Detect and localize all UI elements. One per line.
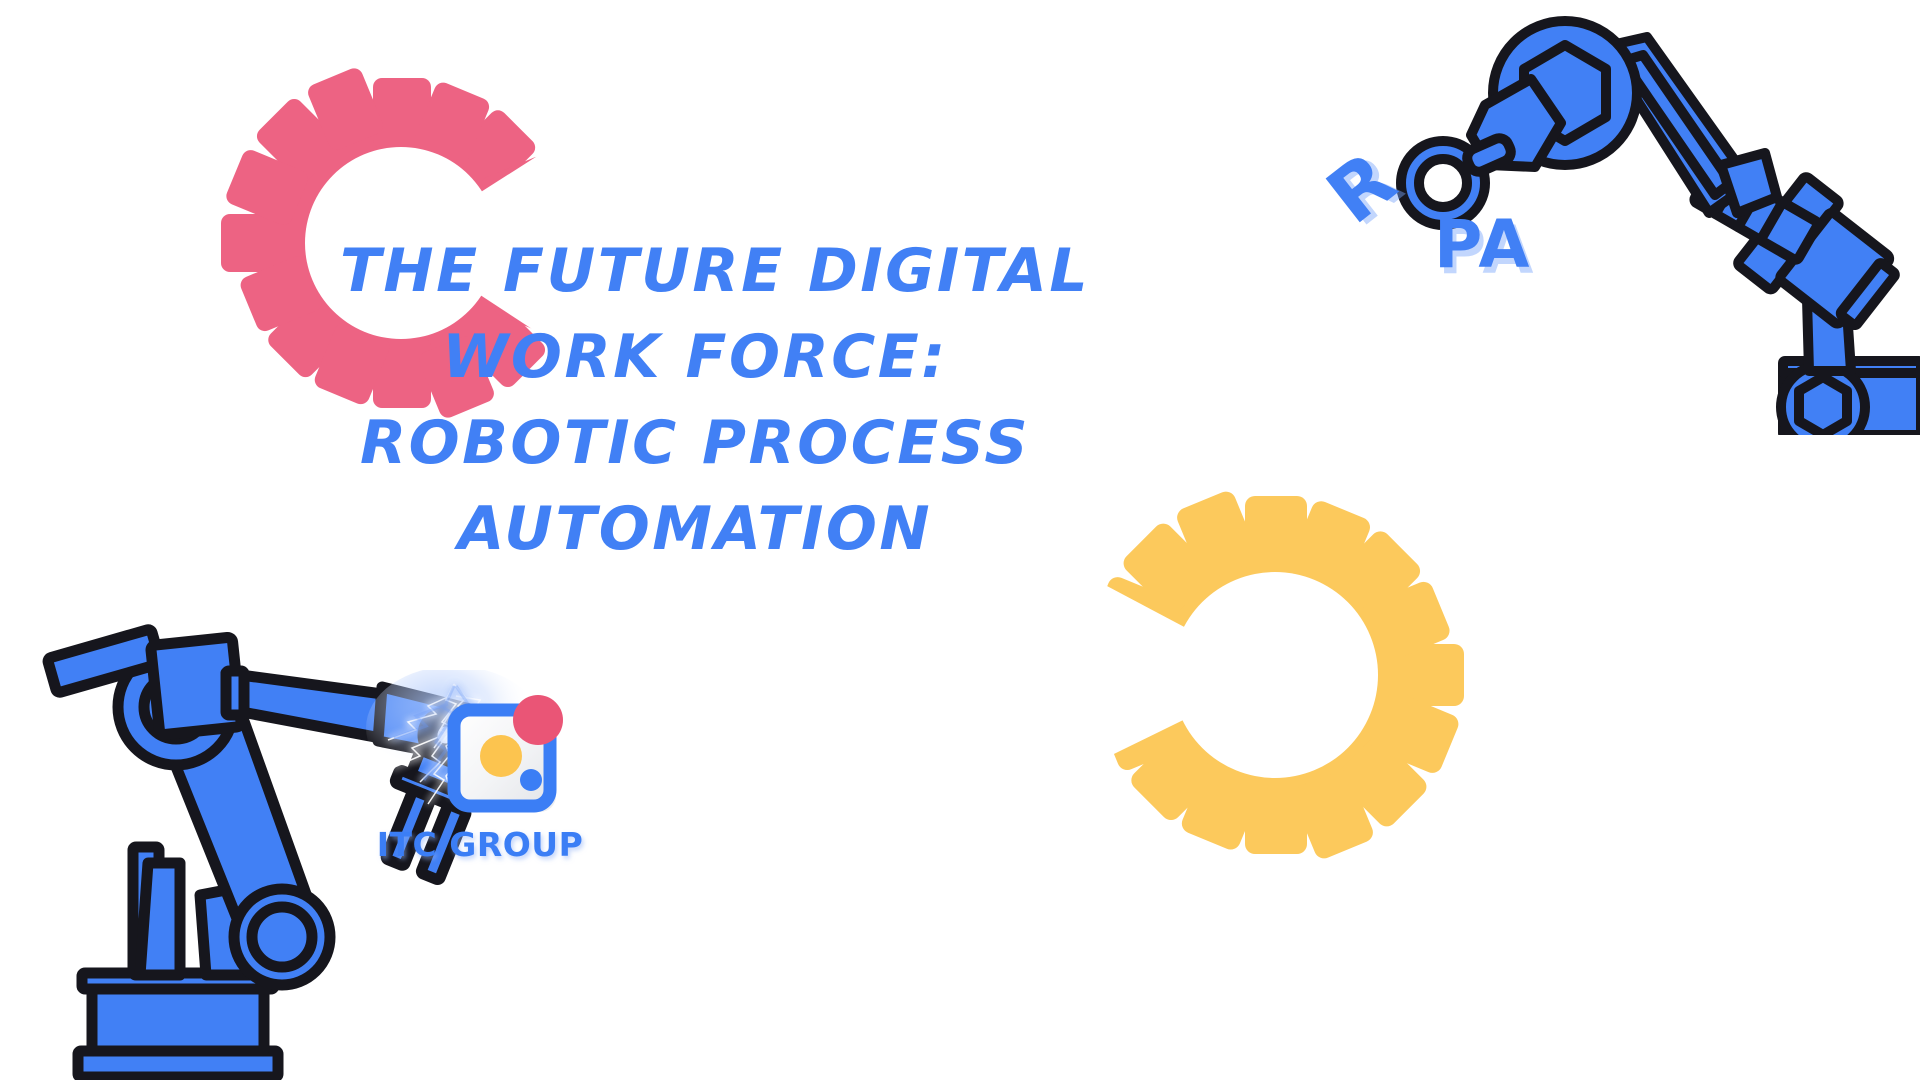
- itc-logo-mark-icon: [446, 694, 564, 824]
- title-line-3: ROBOTIC PROCESS: [340, 400, 1050, 486]
- page-title: THE FUTURE DIGITAL WORK FORCE: ROBOTIC P…: [340, 228, 1050, 572]
- gear-yellow-icon: [1060, 470, 1480, 890]
- itc-group-wordmark: ITC GROUP: [350, 825, 610, 864]
- rpa-letters-pa: PA: [1434, 212, 1531, 278]
- poster-canvas: THE FUTURE DIGITAL WORK FORCE: ROBOTIC P…: [0, 0, 1920, 1080]
- title-line-4: AUTOMATION: [340, 486, 1050, 572]
- title-line-2: WORK FORCE:: [340, 314, 1050, 400]
- itc-group-logo: ITC GROUP: [350, 670, 610, 860]
- title-line-1: THE FUTURE DIGITAL: [340, 228, 1050, 314]
